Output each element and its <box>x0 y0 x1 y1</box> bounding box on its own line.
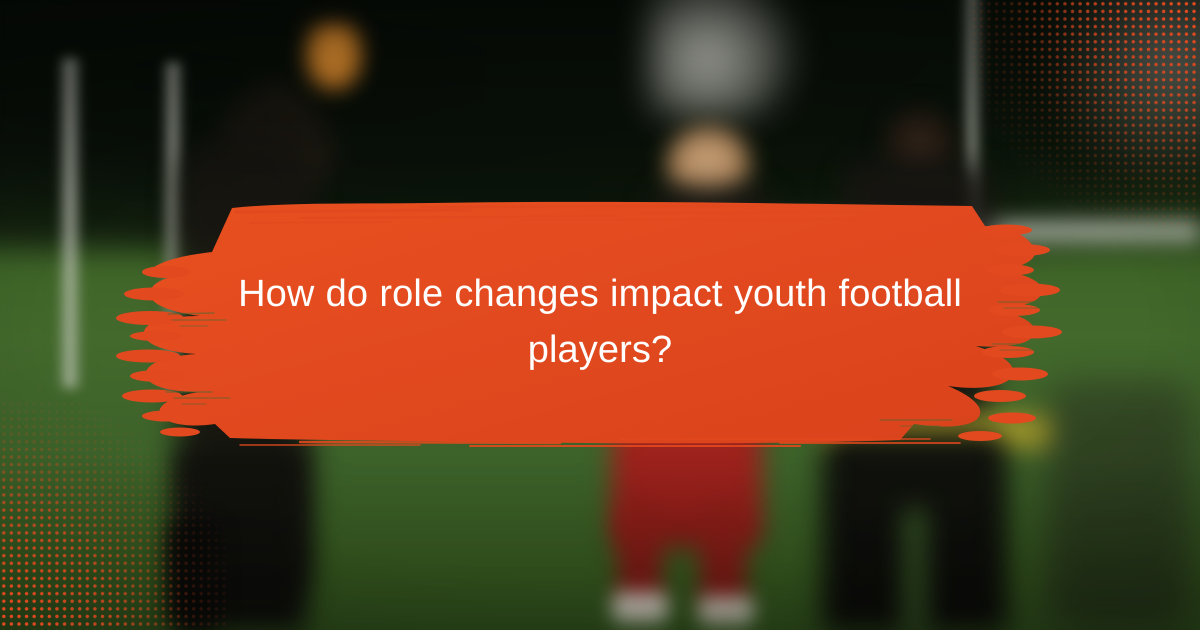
social-card: How do role changes impact youth footbal… <box>0 0 1200 630</box>
headline-text: How do role changes impact youth footbal… <box>205 266 995 378</box>
headline: How do role changes impact youth footbal… <box>205 214 995 430</box>
